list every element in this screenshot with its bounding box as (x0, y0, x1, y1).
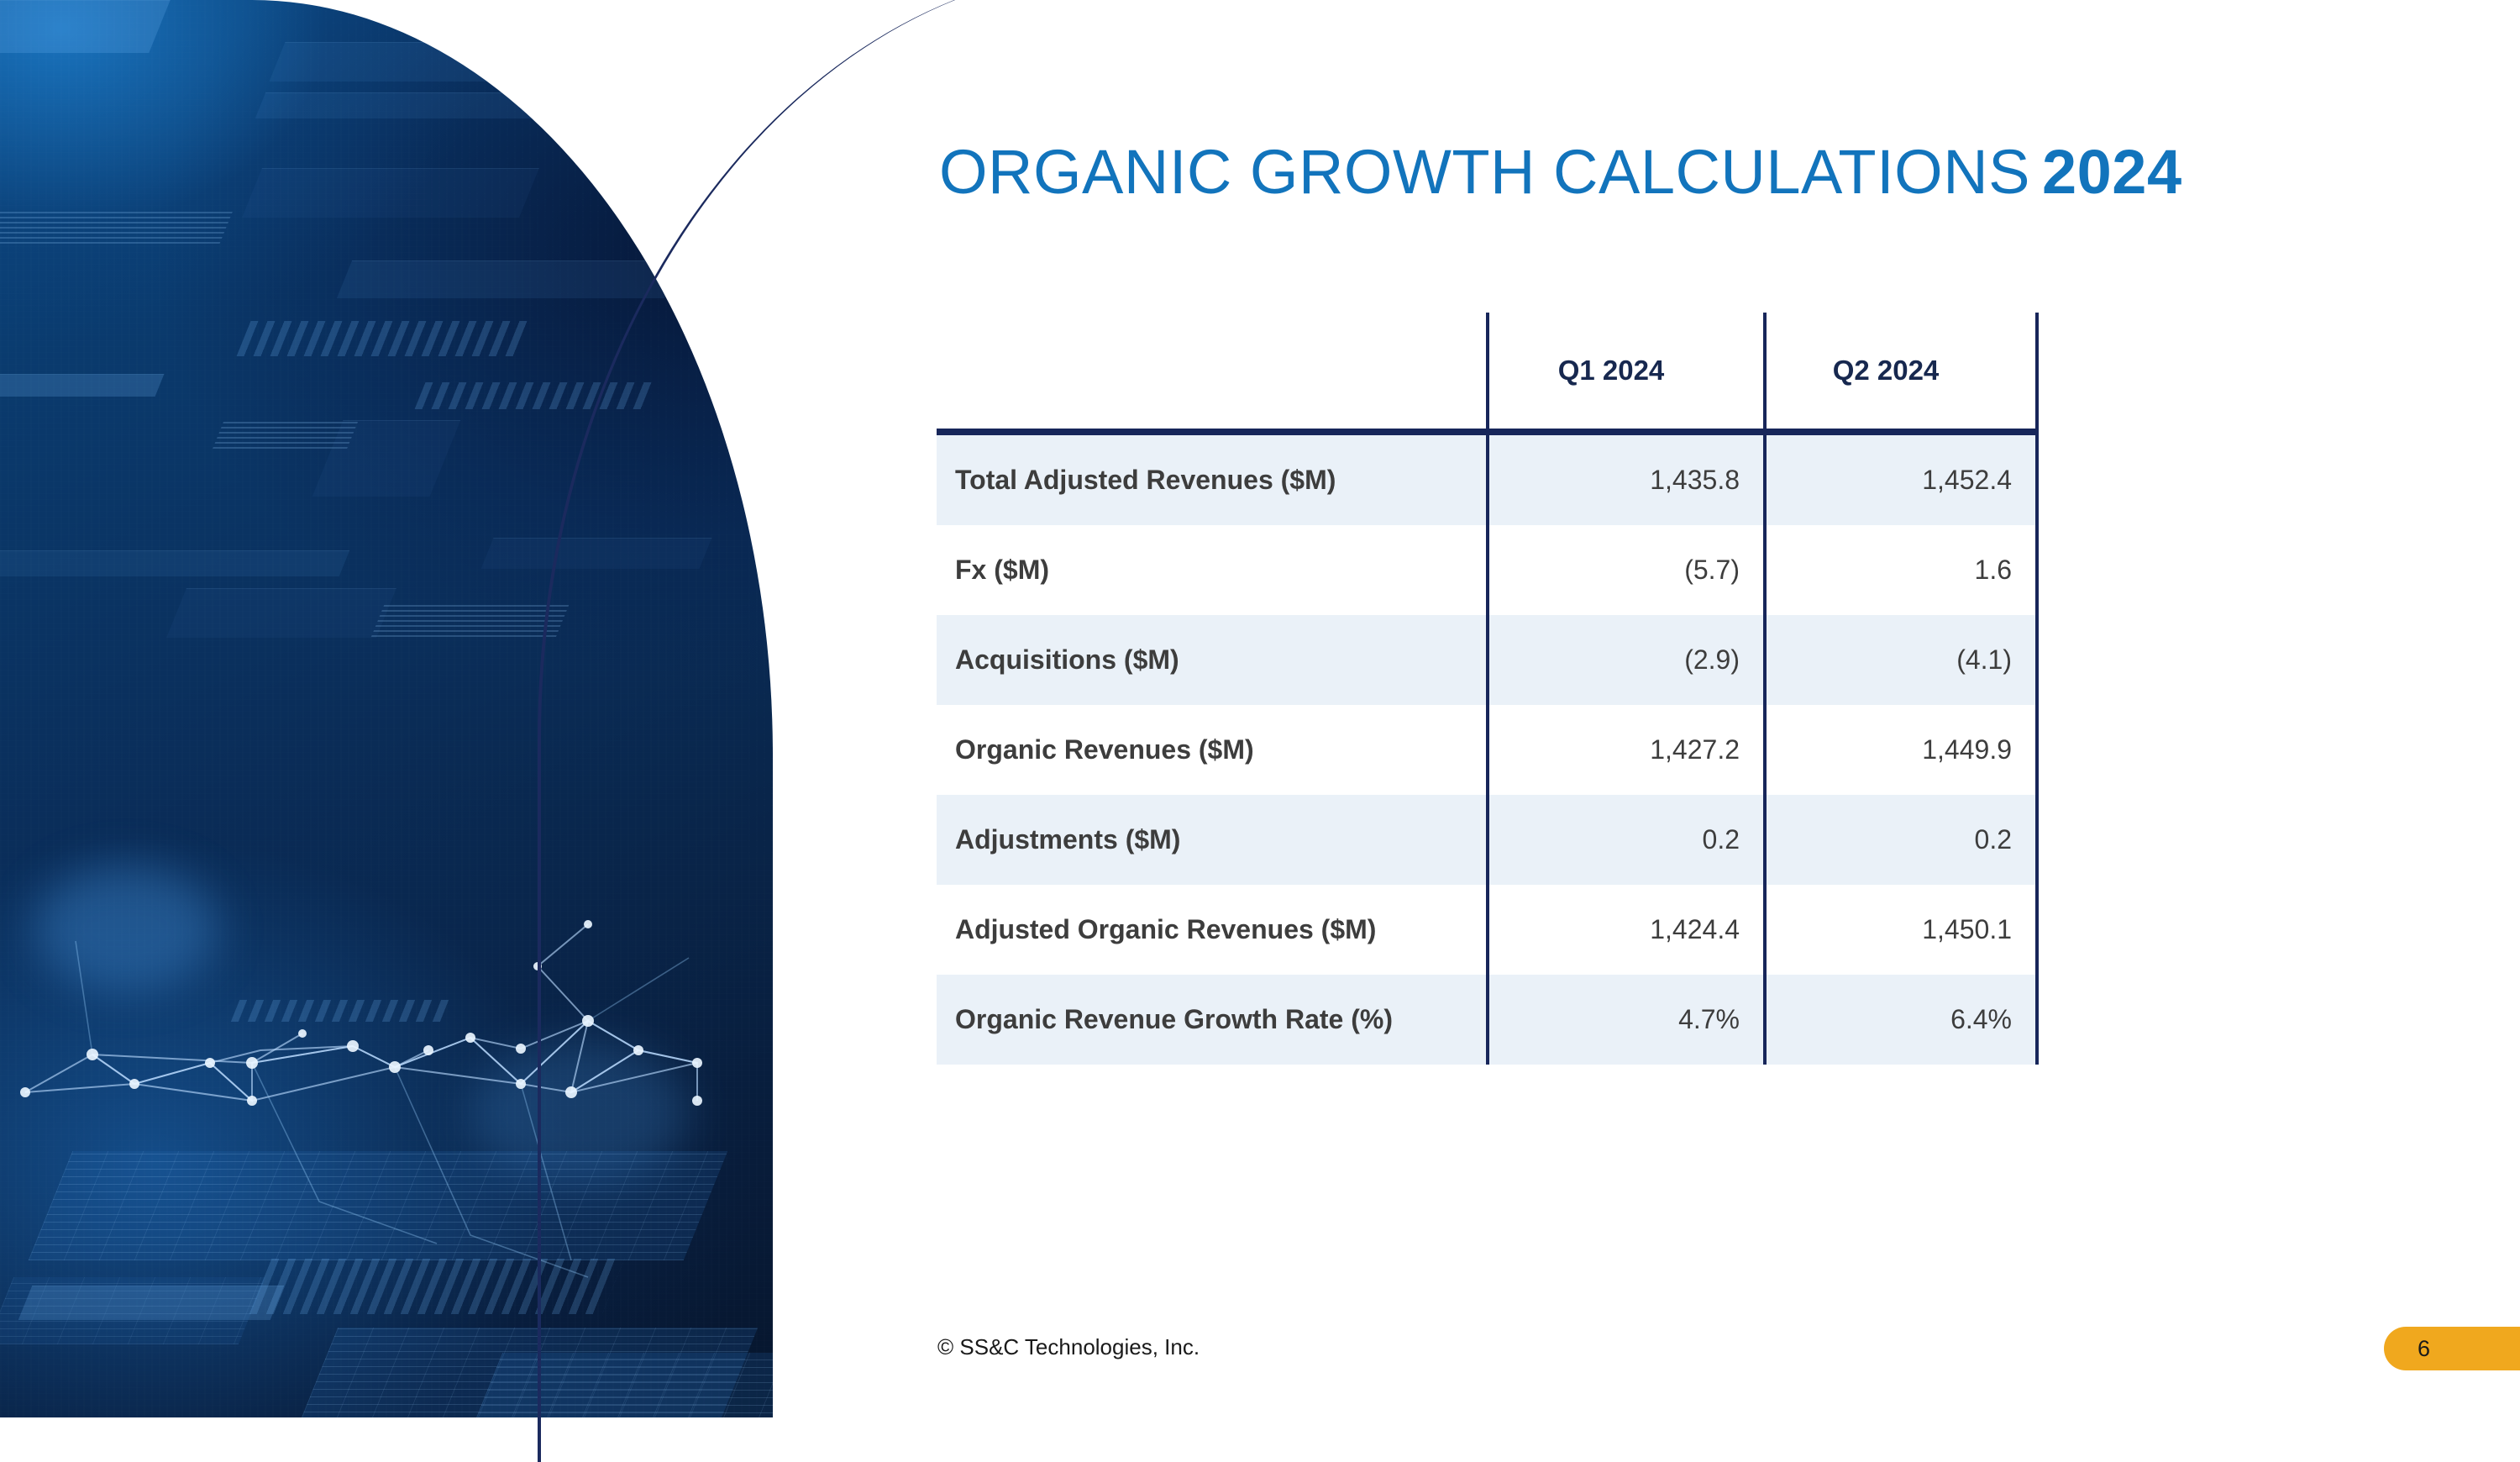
table-row: Acquisitions ($M) (2.9) (4.1) (937, 615, 2037, 705)
page-number-badge: 6 (2384, 1327, 2520, 1370)
organic-growth-table: Q1 2024 Q2 2024 Total Adjusted Revenues … (937, 313, 2039, 1065)
table-row: Total Adjusted Revenues ($M) 1,435.8 1,4… (937, 432, 2037, 525)
column-header-label (937, 313, 1488, 432)
page-title-year: 2024 (2042, 137, 2182, 207)
row-value-q2: 0.2 (1765, 795, 2037, 885)
page-title: ORGANIC GROWTH CALCULATIONS2024 (939, 141, 2182, 203)
row-value-q2: (4.1) (1765, 615, 2037, 705)
table-row: Fx ($M) (5.7) 1.6 (937, 525, 2037, 615)
row-label: Organic Revenues ($M) (937, 705, 1488, 795)
table-header-row: Q1 2024 Q2 2024 (937, 313, 2037, 432)
row-label: Adjusted Organic Revenues ($M) (937, 885, 1488, 975)
row-value-q1: 4.7% (1488, 975, 1765, 1065)
table-header: Q1 2024 Q2 2024 (937, 313, 2037, 432)
row-value-q1: 1,427.2 (1488, 705, 1765, 795)
row-value-q1: (2.9) (1488, 615, 1765, 705)
row-value-q2: 6.4% (1765, 975, 2037, 1065)
table-row: Organic Revenue Growth Rate (%) 4.7% 6.4… (937, 975, 2037, 1065)
decorative-tech-image-panel (0, 0, 773, 1417)
table-row: Organic Revenues ($M) 1,427.2 1,449.9 (937, 705, 2037, 795)
page-title-main: ORGANIC GROWTH CALCULATIONS (939, 137, 2030, 207)
copyright-notice: © SS&C Technologies, Inc. (937, 1334, 1200, 1360)
row-value-q1: (5.7) (1488, 525, 1765, 615)
table-row: Adjustments ($M) 0.2 0.2 (937, 795, 2037, 885)
row-label: Fx ($M) (937, 525, 1488, 615)
row-value-q2: 1.6 (1765, 525, 2037, 615)
table-body: Total Adjusted Revenues ($M) 1,435.8 1,4… (937, 432, 2037, 1065)
row-value-q2: 1,450.1 (1765, 885, 2037, 975)
row-label: Adjustments ($M) (937, 795, 1488, 885)
row-value-q2: 1,452.4 (1765, 432, 2037, 525)
row-value-q1: 1,424.4 (1488, 885, 1765, 975)
row-value-q1: 1,435.8 (1488, 432, 1765, 525)
row-value-q1: 0.2 (1488, 795, 1765, 885)
network-graph-decoration (0, 0, 773, 1417)
organic-growth-table-container: Q1 2024 Q2 2024 Total Adjusted Revenues … (937, 313, 2037, 1065)
row-label: Acquisitions ($M) (937, 615, 1488, 705)
page-number-label: 6 (2418, 1336, 2430, 1362)
row-label: Total Adjusted Revenues ($M) (937, 432, 1488, 525)
row-label: Organic Revenue Growth Rate (%) (937, 975, 1488, 1065)
row-value-q2: 1,449.9 (1765, 705, 2037, 795)
column-header-q1: Q1 2024 (1488, 313, 1765, 432)
column-header-q2: Q2 2024 (1765, 313, 2037, 432)
table-row: Adjusted Organic Revenues ($M) 1,424.4 1… (937, 885, 2037, 975)
